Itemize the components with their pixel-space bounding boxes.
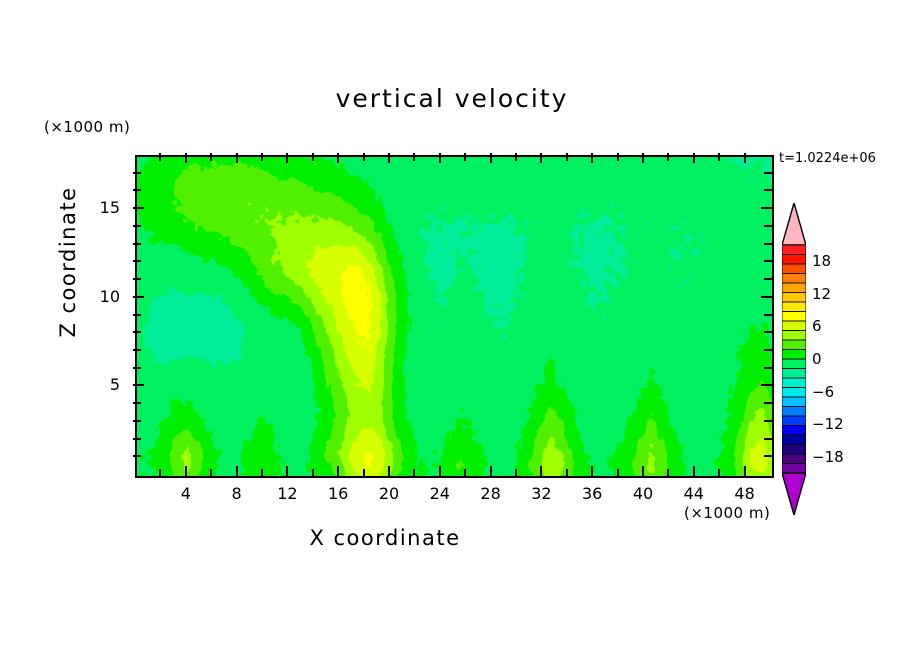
- colorbar-under-arrow: [782, 473, 806, 515]
- x-axis-tick: [617, 469, 619, 477]
- y-axis-tick: [133, 314, 141, 316]
- x-axis-tick-top: [667, 153, 669, 161]
- y-axis-tick-label: 15: [80, 198, 120, 217]
- y-axis-tick-right: [761, 296, 772, 298]
- x-axis-tick: [591, 466, 593, 476]
- page-title: vertical velocity: [0, 84, 904, 113]
- y-axis-tick: [133, 367, 141, 369]
- x-axis-tick-top: [718, 153, 720, 161]
- x-axis-tick: [388, 466, 390, 476]
- colorbar-tick-label: 6: [812, 317, 822, 335]
- colorbar-tick-label: 18: [812, 252, 831, 270]
- colorbar-band: [782, 255, 806, 265]
- colorbar-tick-label: −18: [812, 448, 844, 466]
- x-axis-tick-top: [413, 153, 415, 161]
- y-axis-tick-right: [764, 331, 772, 333]
- x-axis-tick-label: 16: [318, 484, 358, 503]
- x-axis-tick-top: [490, 153, 492, 163]
- x-axis-tick-label: 40: [623, 484, 663, 503]
- y-axis-tick-right: [764, 278, 772, 280]
- y-axis-tick-right: [764, 225, 772, 227]
- x-axis-tick: [286, 466, 288, 476]
- x-axis-tick-top: [540, 153, 542, 163]
- x-axis-tick-label: 48: [725, 484, 765, 503]
- colorbar-band: [782, 464, 806, 474]
- x-axis-tick: [490, 466, 492, 476]
- x-axis-tick-top: [210, 153, 212, 161]
- colorbar-band: [782, 321, 806, 331]
- colorbar-band: [782, 435, 806, 445]
- y-axis-tick-right: [764, 260, 772, 262]
- y-axis-tick-label: 10: [80, 287, 120, 306]
- x-axis-tick-label: 24: [420, 484, 460, 503]
- x-axis-tick-top: [286, 153, 288, 163]
- colorbar-band: [782, 388, 806, 398]
- colorbar-band: [782, 426, 806, 436]
- x-axis-tick: [185, 466, 187, 476]
- x-axis-tick-label: 4: [166, 484, 206, 503]
- x-axis-tick-top: [515, 153, 517, 161]
- colorbar-band: [782, 245, 806, 255]
- x-axis-tick-top: [642, 153, 644, 163]
- x-axis-tick: [261, 469, 263, 477]
- contour-plot-area: [135, 155, 774, 478]
- y-axis-tick: [133, 331, 141, 333]
- x-axis-tick-label: 28: [471, 484, 511, 503]
- contour-field: [137, 157, 772, 476]
- y-axis-tick: [133, 189, 141, 191]
- colorbar-tick-label: −12: [812, 415, 844, 433]
- x-axis-tick-top: [185, 153, 187, 163]
- colorbar-over-arrow: [782, 203, 806, 245]
- colorbar-band: [782, 378, 806, 388]
- colorbar: [782, 203, 806, 515]
- x-axis-tick: [464, 469, 466, 477]
- x-axis-tick: [642, 466, 644, 476]
- x-axis-tick-label: 36: [572, 484, 612, 503]
- y-axis-tick: [133, 296, 144, 298]
- colorbar-band: [782, 340, 806, 350]
- y-axis-tick-right: [764, 349, 772, 351]
- x-axis-tick-top: [566, 153, 568, 161]
- colorbar-band: [782, 264, 806, 274]
- y-axis-tick: [133, 455, 141, 457]
- x-axis-tick-top: [591, 153, 593, 163]
- colorbar-band: [782, 350, 806, 360]
- y-axis-tick: [133, 384, 144, 386]
- y-axis-tick: [133, 207, 144, 209]
- colorbar-band: [782, 369, 806, 379]
- x-axis-unit-label: (×1000 m): [684, 504, 770, 522]
- y-axis-unit-label: (×1000 m): [44, 118, 130, 136]
- figure-root: vertical velocity (×1000 m) (×1000 m) t=…: [0, 0, 904, 654]
- colorbar-tick-label: 12: [812, 285, 831, 303]
- x-axis-tick: [413, 469, 415, 477]
- y-axis-tick-right: [764, 314, 772, 316]
- x-axis-tick-top: [261, 153, 263, 161]
- y-axis-tick-label: 5: [80, 375, 120, 394]
- x-axis-tick: [236, 466, 238, 476]
- x-axis-tick-top: [464, 153, 466, 161]
- colorbar-band: [782, 283, 806, 293]
- colorbar-tick-label: 0: [812, 350, 822, 368]
- colorbar-tick-label: −6: [812, 383, 834, 401]
- x-axis-tick: [566, 469, 568, 477]
- x-axis-tick-label: 44: [674, 484, 714, 503]
- y-axis-tick-right: [764, 189, 772, 191]
- colorbar-band: [782, 416, 806, 426]
- x-axis-tick: [718, 469, 720, 477]
- x-axis-tick-top: [617, 153, 619, 161]
- x-axis-tick-top: [337, 153, 339, 163]
- y-axis-tick: [133, 243, 141, 245]
- y-axis-tick-right: [764, 172, 772, 174]
- y-axis-tick: [133, 172, 141, 174]
- y-axis-tick: [133, 260, 141, 262]
- y-axis-tick-right: [764, 455, 772, 457]
- y-axis-tick: [133, 438, 141, 440]
- x-axis-tick: [667, 469, 669, 477]
- y-axis-tick: [133, 420, 141, 422]
- x-axis-title: X coordinate: [0, 526, 770, 550]
- colorbar-band: [782, 293, 806, 303]
- x-axis-tick-top: [159, 153, 161, 161]
- x-axis-tick: [693, 466, 695, 476]
- y-axis-tick-right: [764, 367, 772, 369]
- y-axis-tick-right: [764, 438, 772, 440]
- x-axis-tick: [744, 466, 746, 476]
- x-axis-tick: [159, 469, 161, 477]
- y-axis-tick-right: [764, 420, 772, 422]
- x-axis-tick: [515, 469, 517, 477]
- colorbar-band: [782, 331, 806, 341]
- y-axis-tick: [133, 225, 141, 227]
- x-axis-tick: [210, 469, 212, 477]
- x-axis-tick-label: 12: [267, 484, 307, 503]
- x-axis-tick-label: 32: [521, 484, 561, 503]
- x-axis-tick-top: [312, 153, 314, 161]
- x-axis-tick: [337, 466, 339, 476]
- x-axis-tick: [363, 469, 365, 477]
- colorbar-band: [782, 454, 806, 464]
- colorbar-band: [782, 274, 806, 284]
- y-axis-tick: [133, 278, 141, 280]
- y-axis-tick-right: [761, 207, 772, 209]
- x-axis-tick-top: [363, 153, 365, 161]
- x-axis-tick: [540, 466, 542, 476]
- x-axis-tick-top: [236, 153, 238, 163]
- colorbar-band: [782, 407, 806, 417]
- y-axis-tick-right: [764, 402, 772, 404]
- x-axis-tick-top: [693, 153, 695, 163]
- x-axis-tick-top: [388, 153, 390, 163]
- y-axis-tick: [133, 402, 141, 404]
- colorbar-band: [782, 397, 806, 407]
- x-axis-tick-label: 20: [369, 484, 409, 503]
- timestamp-label: t=1.0224e+06: [779, 151, 876, 166]
- y-axis-tick-right: [761, 384, 772, 386]
- colorbar-band: [782, 302, 806, 312]
- x-axis-tick-top: [744, 153, 746, 163]
- y-axis-tick-right: [764, 243, 772, 245]
- colorbar-band: [782, 312, 806, 322]
- x-axis-tick: [312, 469, 314, 477]
- y-axis-tick: [133, 349, 141, 351]
- x-axis-tick: [439, 466, 441, 476]
- colorbar-band: [782, 445, 806, 455]
- y-axis-title: Z coordinate: [56, 162, 80, 362]
- colorbar-band: [782, 359, 806, 369]
- x-axis-tick-top: [439, 153, 441, 163]
- x-axis-tick-label: 8: [217, 484, 257, 503]
